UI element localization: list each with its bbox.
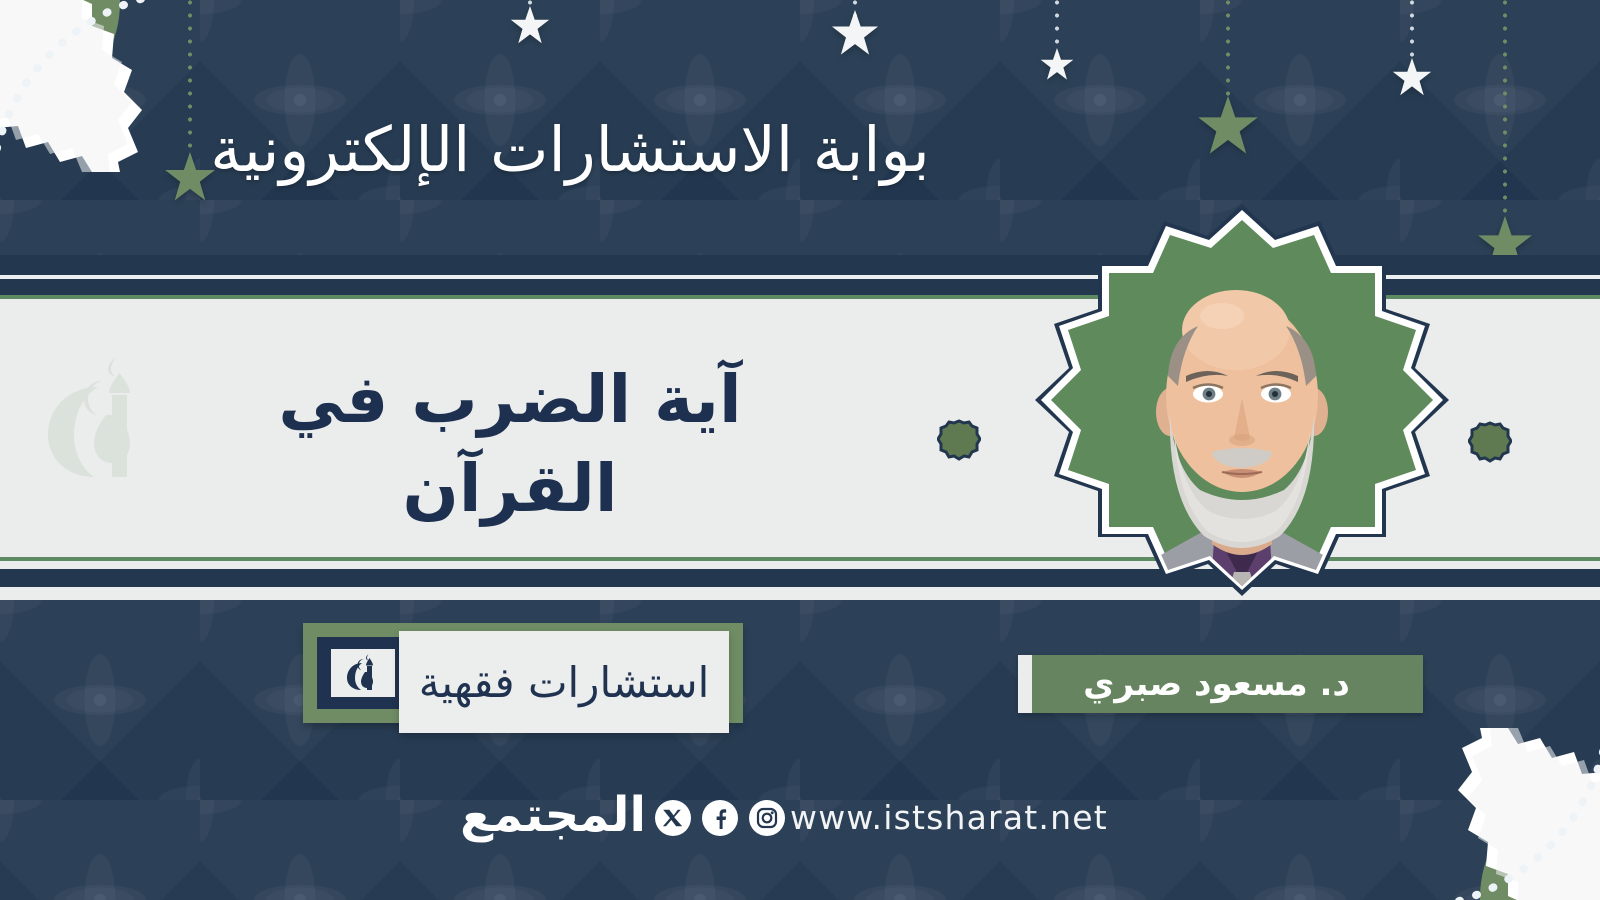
rosette-dot [1468, 420, 1512, 464]
author-portrait [1022, 200, 1462, 650]
corner-ornament-bottom-right [1428, 728, 1600, 900]
brand-logo-text: المجتمع [460, 787, 646, 843]
x-twitter-icon[interactable] [655, 800, 691, 836]
portrait-frame-rosette-icon [1022, 200, 1462, 650]
instagram-icon[interactable] [749, 800, 785, 836]
header-calligraphy: بوابة الاستشارات الإلكترونية [200, 62, 940, 237]
facebook-icon[interactable] [702, 800, 738, 836]
page-title: آية الضرب في القرآن [210, 355, 810, 533]
brand-logo-mujtama: المجتمع [478, 775, 628, 855]
category-badge: استشارات فقهية [303, 623, 743, 733]
corner-ornament-top-left [0, 0, 172, 172]
category-badge-logo [331, 649, 395, 697]
category-badge-label-plate: استشارات فقهية [399, 631, 729, 733]
header-calligraphy-text: بوابة الاستشارات الإلكترونية [210, 108, 930, 192]
crescent-minaret-icon [342, 654, 384, 692]
author-badge-accent-bar [1018, 655, 1032, 713]
poster-canvas: بوابة الاستشارات الإلكترونية [0, 0, 1600, 900]
author-name-badge: د. مسعود صبري [1018, 655, 1423, 713]
rosette-dot [937, 418, 981, 462]
website-url[interactable]: www.istsharat.net [790, 798, 1108, 837]
author-name: د. مسعود صبري [1083, 664, 1358, 704]
category-badge-label: استشارات فقهية [419, 658, 710, 707]
social-links [655, 800, 785, 836]
